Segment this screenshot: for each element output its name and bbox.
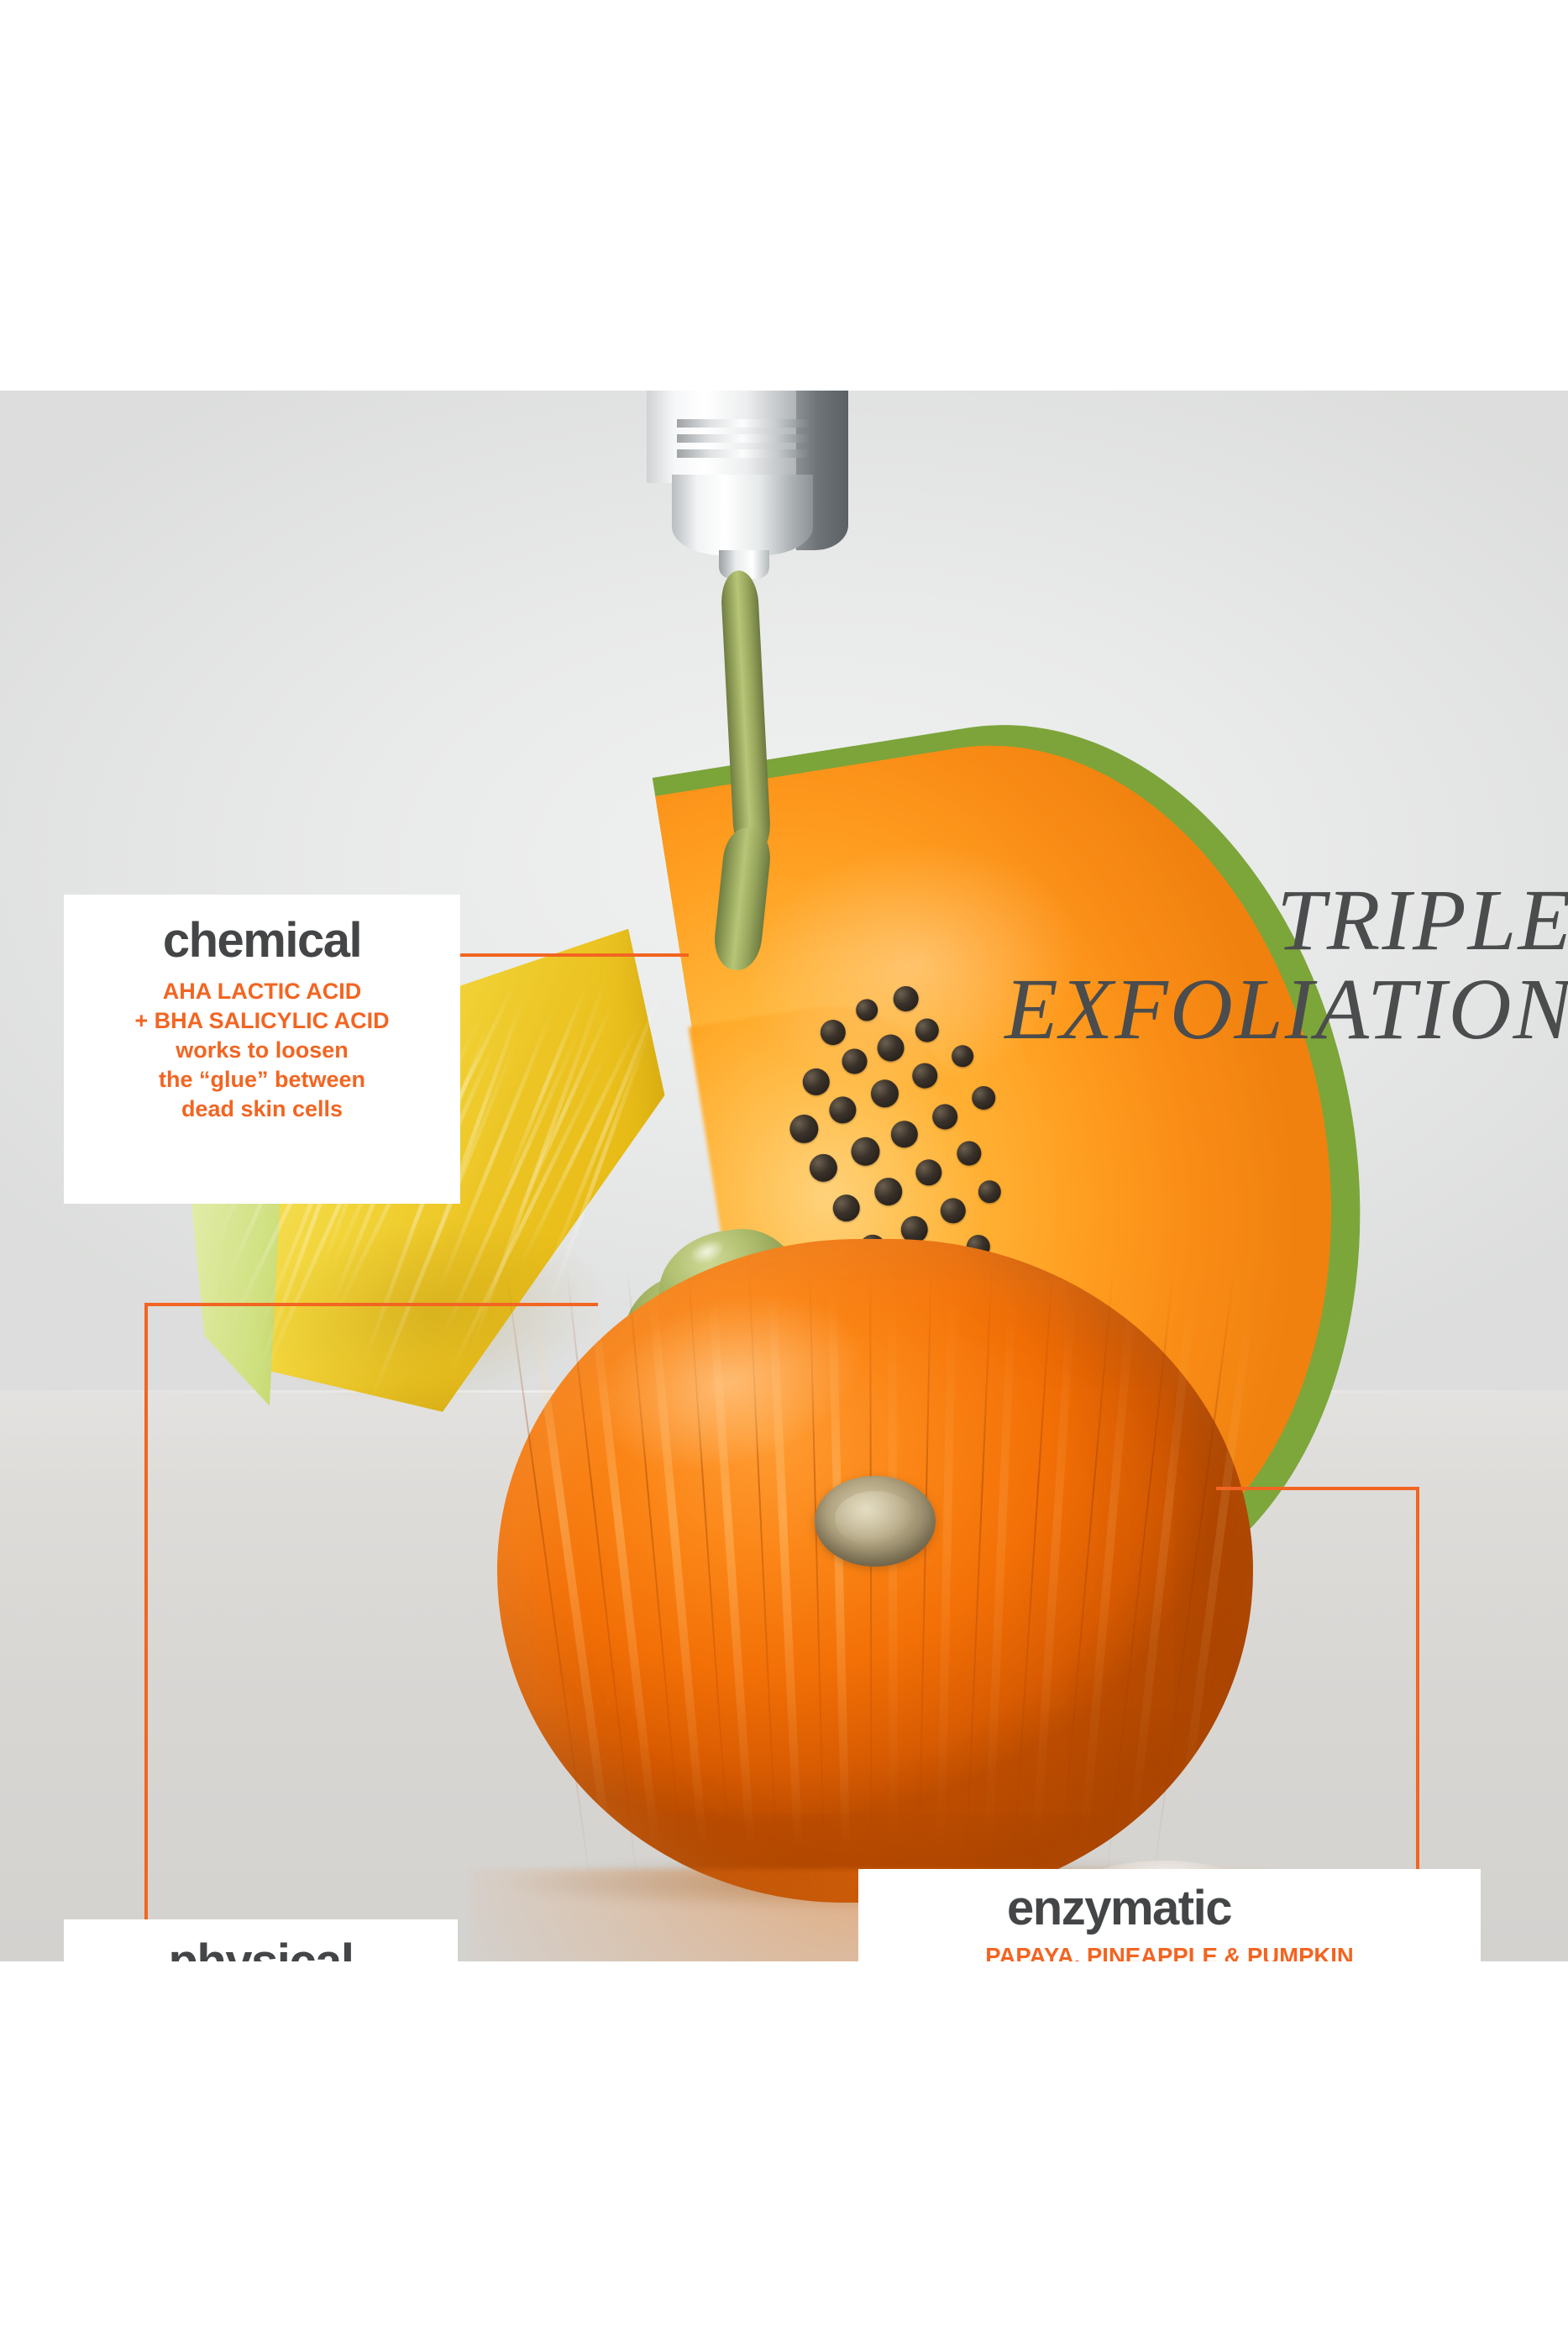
tube-ring (677, 419, 808, 428)
callout-chemical-heading: chemical (64, 916, 460, 965)
pumpkin-rib-highlight (888, 1292, 897, 1850)
page-title: TRIPLE EXFOLIATION (935, 876, 1568, 1054)
callout-physical: physical SILICA acts like a natural bead… (64, 1919, 458, 1961)
pumpkin (497, 1239, 1253, 1903)
callout-enzymatic: enzymatic PAPAYA, PINEAPPLE & PUMPKIN en… (858, 1869, 1481, 1961)
callout-physical-heading: physical (64, 1938, 458, 1961)
pumpkin-stem (815, 1476, 936, 1567)
tube-ring (677, 434, 808, 443)
connector-line-enzymatic-top (1216, 1487, 1419, 1490)
callout-enzymatic-heading: enzymatic (858, 1884, 1481, 1933)
connector-line-physical-horizontal (144, 1303, 598, 1306)
connector-line-physical-vertical (144, 1303, 148, 1960)
tube-ring (677, 449, 808, 458)
product-hero-photo: TRIPLE EXFOLIATION chemical AHA LACTIC A… (0, 391, 1568, 1961)
callout-chemical: chemical AHA LACTIC ACID + BHA SALICYLIC… (64, 895, 460, 1204)
squeeze-tube-neck (672, 475, 813, 555)
callout-chemical-body: AHA LACTIC ACID + BHA SALICYLIC ACID wor… (64, 977, 460, 1124)
stray-seed-cluster (1132, 1810, 1213, 1861)
callout-enzymatic-body: PAPAYA, PINEAPPLE & PUMPKIN enzymes dige… (858, 1941, 1481, 1961)
